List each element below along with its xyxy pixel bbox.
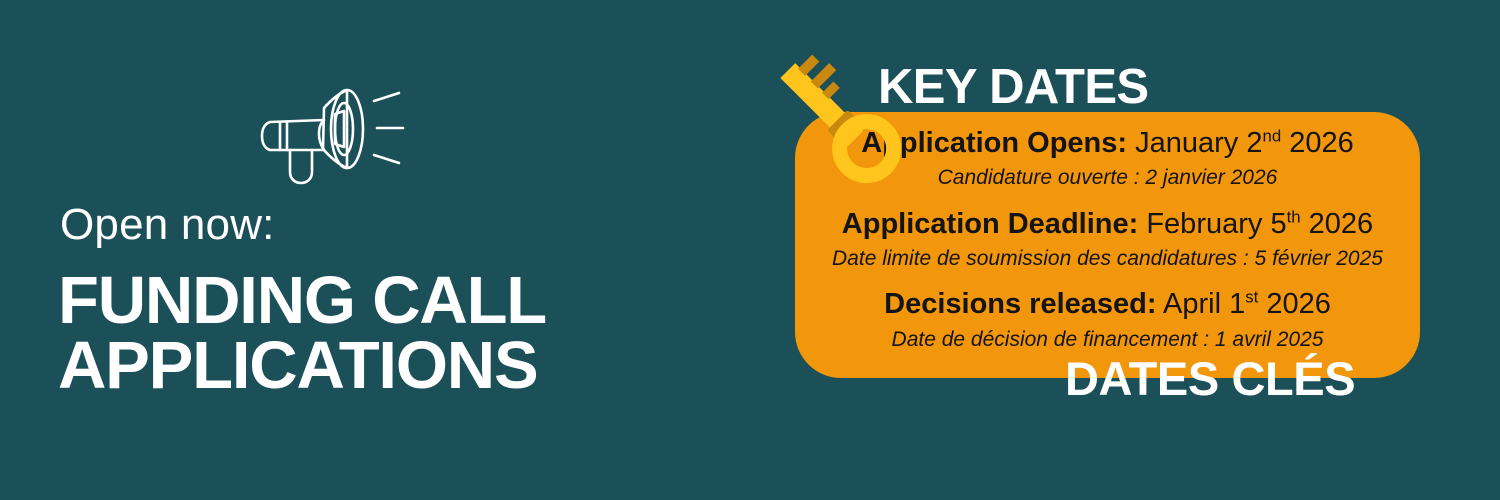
date-value-year: 2026: [1281, 127, 1354, 159]
date-value-prefix: January 2: [1135, 127, 1262, 159]
date-ordinal-suffix: nd: [1262, 126, 1281, 145]
headline-line-2: APPLICATIONS: [58, 333, 718, 398]
date-value-year: 2026: [1301, 208, 1374, 240]
key-dates-title-fr: DATES CLÉS: [1065, 355, 1485, 402]
date-value: January 2nd 2026: [1135, 127, 1354, 159]
date-french-line: Date limite de soumission des candidatur…: [795, 245, 1420, 272]
eyebrow-text: Open now:: [60, 203, 275, 247]
page-title: FUNDING CALL APPLICATIONS: [58, 268, 718, 398]
date-label: Application Deadline:: [842, 208, 1138, 240]
date-value: February 5th 2026: [1146, 208, 1373, 240]
left-panel: Open now: FUNDING CALL APPLICATIONS: [0, 0, 740, 500]
date-entry: Application Deadline: February 5th 2026 …: [795, 207, 1420, 273]
date-label: Decisions released:: [884, 288, 1156, 320]
key-dates-title-en: KEY DATES: [878, 63, 1149, 112]
date-value: April 1st 2026: [1163, 288, 1331, 320]
date-ordinal-suffix: th: [1287, 207, 1301, 226]
date-value-prefix: February 5: [1146, 208, 1286, 240]
date-ordinal-suffix: st: [1245, 288, 1258, 307]
right-panel: KEY DATES Application Opens: January 2nd…: [740, 0, 1500, 500]
date-entry: Decisions released: April 1st 2026 Date …: [795, 287, 1420, 353]
date-french-line: Date de décision de financement : 1 avri…: [795, 326, 1420, 353]
funding-call-banner: Open now: FUNDING CALL APPLICATIONS: [0, 0, 1500, 500]
date-main-line: Application Deadline: February 5th 2026: [795, 207, 1420, 242]
headline-line-1: FUNDING CALL: [58, 268, 718, 333]
date-main-line: Decisions released: April 1st 2026: [795, 287, 1420, 322]
megaphone-icon: [258, 66, 408, 186]
date-value-prefix: April 1: [1163, 288, 1245, 320]
date-value-year: 2026: [1258, 288, 1331, 320]
